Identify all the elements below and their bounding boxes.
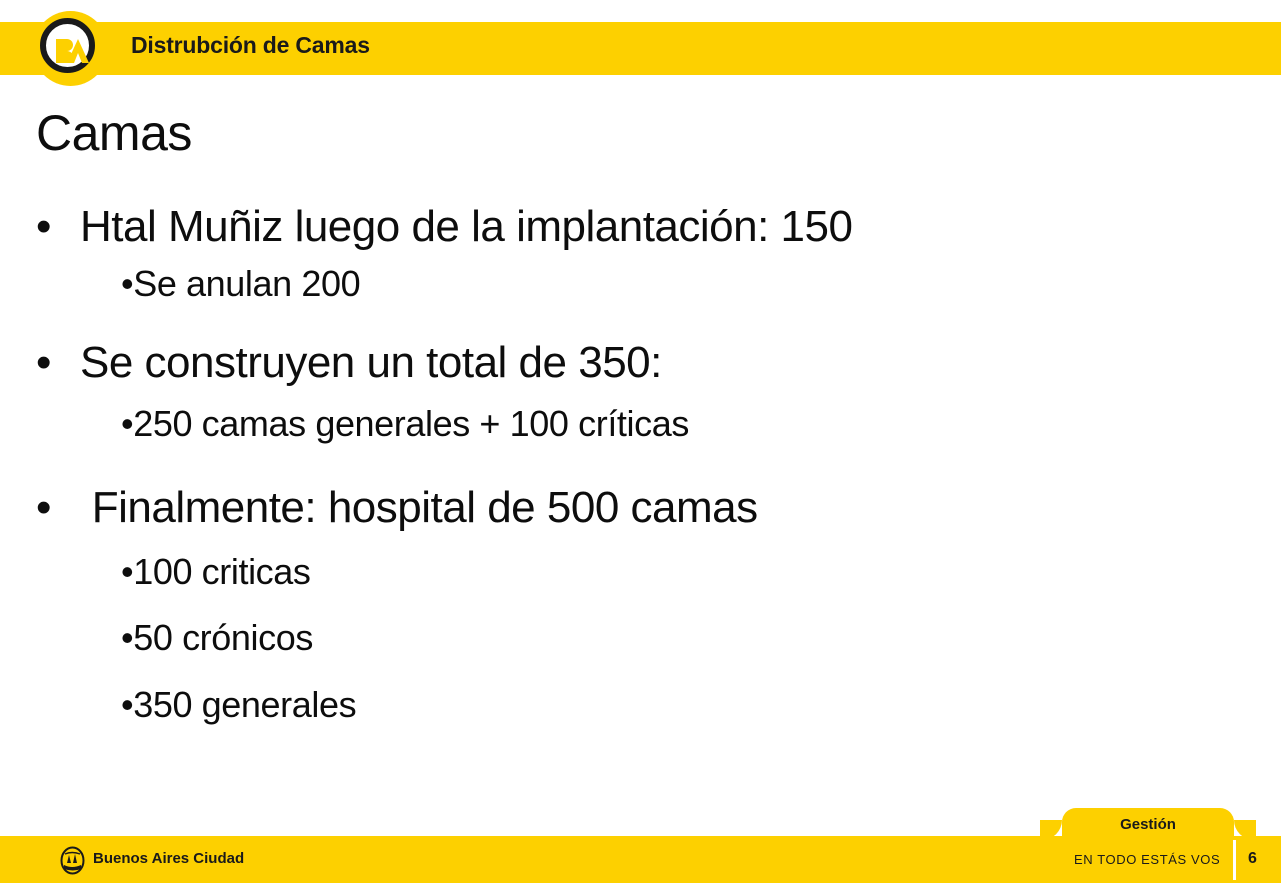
sub-bullet-item: •250 camas generales + 100 críticas bbox=[121, 406, 689, 442]
footer-tab-label: Gestión bbox=[1062, 816, 1234, 833]
sub-bullet-marker: • bbox=[121, 403, 133, 444]
page-number: 6 bbox=[1248, 850, 1257, 868]
sub-bullet-text: 50 crónicos bbox=[133, 617, 313, 658]
bullet-marker: • bbox=[36, 341, 80, 385]
sub-bullet-text: 100 criticas bbox=[133, 551, 310, 592]
slide-heading: Camas bbox=[36, 108, 192, 158]
sub-bullet-item: •50 crónicos bbox=[121, 620, 313, 656]
sub-bullet-marker: • bbox=[121, 263, 133, 304]
footer-divider bbox=[1233, 840, 1236, 880]
sub-bullet-item: •Se anulan 200 bbox=[121, 266, 360, 302]
footer-slogan: EN TODO ESTÁS VOS bbox=[1074, 852, 1220, 867]
bullet-text: Finalmente: hospital de 500 camas bbox=[80, 483, 758, 532]
bullet-text: Se construyen un total de 350: bbox=[80, 338, 662, 387]
sub-bullet-text: 350 generales bbox=[133, 684, 356, 725]
bullet-text: Htal Muñiz luego de la implantación: 150 bbox=[80, 202, 852, 251]
bullet-item: •Htal Muñiz luego de la implantación: 15… bbox=[36, 205, 852, 249]
sub-bullet-marker: • bbox=[121, 684, 133, 725]
sub-bullet-item: •100 criticas bbox=[121, 554, 311, 590]
sub-bullet-marker: • bbox=[121, 551, 133, 592]
bullet-marker: • bbox=[36, 486, 80, 530]
buenos-aires-crest-icon bbox=[58, 846, 87, 875]
sub-bullet-item: •350 generales bbox=[121, 687, 356, 723]
sub-bullet-text: Se anulan 200 bbox=[133, 263, 360, 304]
bullet-item: •Se construyen un total de 350: bbox=[36, 341, 662, 385]
page-title: Distrubción de Camas bbox=[131, 32, 370, 59]
ba-monogram-icon bbox=[40, 18, 101, 79]
ba-logo bbox=[33, 11, 108, 86]
footer-brand: Buenos Aires Ciudad bbox=[93, 850, 244, 867]
sub-bullet-marker: • bbox=[121, 617, 133, 658]
bullet-marker: • bbox=[36, 205, 80, 249]
sub-bullet-text: 250 camas generales + 100 críticas bbox=[133, 403, 689, 444]
bullet-item: • Finalmente: hospital de 500 camas bbox=[36, 486, 758, 530]
